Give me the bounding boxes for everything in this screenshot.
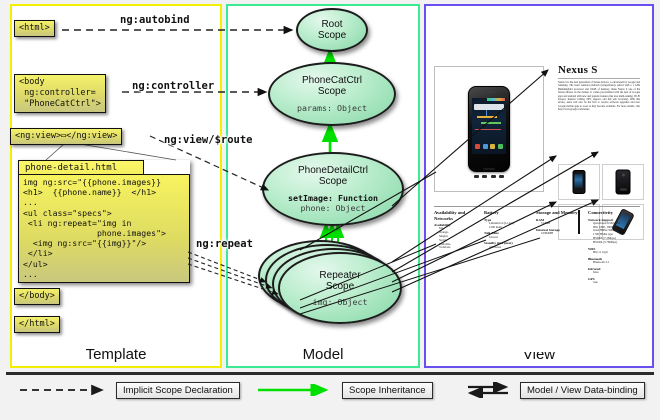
spec-val: Vodafone: [434, 246, 484, 250]
phonecatctrl-prop-params: params: Object: [297, 103, 367, 113]
phone-soft-keys: [472, 172, 506, 180]
spec-val: true: [588, 281, 640, 285]
phonedetailctrl-prop-phone: phone: Object: [301, 203, 366, 213]
model-column-label: Model: [228, 346, 418, 363]
label-ng-view-route: ng:view/$route: [164, 134, 253, 146]
main-phone-image[interactable]: [434, 66, 544, 192]
legend-label-databinding: Model / View Data-binding: [520, 382, 645, 399]
spec-heading-availability: Availability and Networks: [434, 210, 484, 221]
phone-home-bar: [483, 168, 495, 170]
legend-divider: [6, 372, 654, 375]
spec-val: HSUPA (5.76Mbps): [588, 241, 640, 245]
spec-col-battery: Battery Type Lithium Ion (Li-Ion) 1500 m…: [484, 210, 536, 285]
legend-label-implicit: Implicit Scope Declaration: [116, 382, 240, 399]
phonedetailctrl-title-2: Scope: [319, 176, 347, 187]
title-divider: [558, 78, 640, 79]
repeater-title-1: Repeater: [319, 270, 360, 281]
html-close-tag-box[interactable]: </html>: [14, 316, 60, 333]
spec-val: 802.11 b/g/n: [588, 251, 640, 255]
ng-view-tag-box[interactable]: <ng:view>▭</ng:view>: [10, 128, 122, 145]
phone-device-graphic: [468, 86, 510, 172]
spec-val: Bluetooth 2.1: [588, 261, 640, 265]
spec-col-connectivity: Connectivity Network Support Quad-band G…: [588, 210, 640, 285]
body-close-tag-box[interactable]: </body>: [14, 288, 60, 305]
rendered-view-page: Nexus S Nexus S is the next generation o…: [430, 14, 644, 352]
phonedetailctrl-title-1: PhoneDetailCtrl: [298, 165, 368, 176]
label-ng-repeat: ng:repeat: [196, 238, 253, 250]
spec-val: 6 hours: [484, 236, 536, 240]
phone-screen-line-green: [481, 122, 501, 124]
spec-heading-battery: Battery: [484, 210, 536, 216]
phone-speaker: [484, 91, 495, 93]
phone-screen-line-red: [475, 129, 501, 130]
html-open-tag-box[interactable]: <html>: [14, 20, 55, 37]
product-title: Nexus S: [558, 64, 598, 76]
thumbnail-phone-front[interactable]: [558, 164, 600, 200]
phonecatctrl-title-1: PhoneCatCtrl: [302, 75, 362, 86]
spec-table: Availability and Networks Availability M…: [434, 210, 640, 285]
phone-screen: [472, 98, 506, 154]
phonedetailctrl-prop-setimage: setImage: Function: [288, 193, 378, 203]
legend-label-inheritance: Scope Inheritance: [342, 382, 433, 399]
body-controller-tag-box[interactable]: <body ng:controller= "PhoneCatCtrl">: [14, 74, 106, 113]
root-scope-title-1: Root: [321, 19, 342, 30]
phone-statusbar: [487, 98, 505, 101]
spec-val: 512MB: [536, 222, 588, 226]
phone-searchbar: [474, 104, 504, 110]
spec-col-storage: Storage and Memory RAM 512MB Internal St…: [536, 210, 588, 285]
phonecatctrl-scope-node[interactable]: PhoneCatCtrl Scope params: Object: [268, 62, 396, 126]
note-filename: phone-detail.html: [18, 160, 144, 174]
spec-heading-connectivity: Connectivity: [588, 210, 640, 216]
repeater-prop-img: img: Object: [313, 297, 368, 307]
spec-divider: [434, 206, 640, 207]
spec-col-availability: Availability and Networks Availability M…: [434, 210, 484, 285]
legend-item-data-binding: Model / View Data-binding: [466, 382, 645, 398]
phonedetailctrl-scope-node[interactable]: PhoneDetailCtrl Scope setImage: Function…: [262, 152, 404, 226]
legend-item-implicit-scope-declaration: Implicit Scope Declaration: [18, 382, 240, 398]
phone-screen-line-yellow: [477, 116, 497, 118]
product-description: Nexus S is the next generation of Nexus …: [558, 81, 640, 112]
phonecatctrl-title-2: Scope: [318, 86, 346, 97]
phone-detail-template-note[interactable]: phone-detail.html img ng:src="{{phone.im…: [18, 160, 190, 283]
spec-val: 428 hours: [484, 246, 536, 250]
spec-heading-storage: Storage and Memory: [536, 210, 588, 216]
phone-app-dock: [474, 142, 504, 151]
spec-val: 16384MB: [536, 232, 588, 236]
legend-double-arrow-icon: [466, 382, 514, 398]
label-ng-controller: ng:controller: [132, 80, 214, 92]
repeater-title-2: Scope: [326, 281, 354, 292]
note-code: img ng:src="{{phone.images}} <h1> {{phon…: [18, 174, 190, 283]
repeater-scope-node[interactable]: Repeater Scope img: Object: [278, 252, 402, 324]
diagram-canvas: Template <html> <body ng:controller= "Ph…: [0, 0, 660, 420]
spec-val: 1500 mAh: [484, 226, 536, 230]
legend-solid-arrow-icon: [256, 384, 336, 396]
template-column-label: Template: [12, 346, 220, 363]
legend-item-scope-inheritance: Scope Inheritance: [256, 382, 433, 398]
legend-dashed-arrow-icon: [18, 384, 110, 396]
thumbnail-phone-back[interactable]: [602, 164, 644, 200]
spec-val: false: [588, 271, 640, 275]
root-scope-node[interactable]: Root Scope: [296, 8, 368, 52]
root-scope-title-2: Scope: [318, 30, 346, 41]
label-ng-autobind: ng:autobind: [120, 14, 190, 26]
